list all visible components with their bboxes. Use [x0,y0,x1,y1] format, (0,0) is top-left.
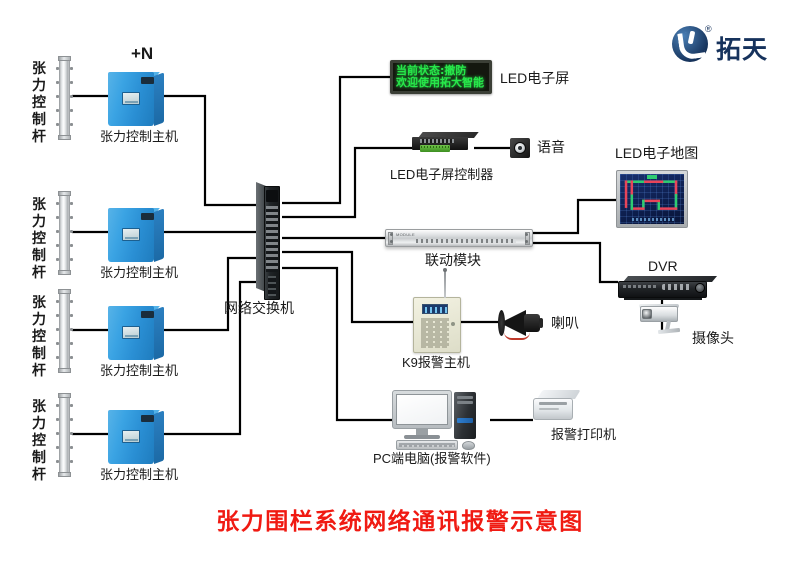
host-lcd-icon [122,326,140,339]
k9-alarm-host-label: K9报警主机 [402,356,470,371]
dvr-device [618,276,712,300]
mouse-icon [462,441,475,450]
led-controller-label: LED电子屏控制器 [390,168,493,183]
dvr-jog-dial-icon [695,283,705,293]
linkage-module-label: 联动模块 [425,252,481,268]
pc-tower-icon [454,392,476,439]
tension-pole-1 [57,57,72,139]
host-lcd-icon [122,228,140,241]
host-lcd-icon [122,430,140,443]
tension-pole-label-3: 张力控制杆 [31,294,47,379]
tension-pole-label-4: 张力控制杆 [31,398,47,483]
network-switch-label: 网络交换机 [224,300,294,316]
host-indicator-panel-icon [141,213,154,220]
led-display-screen: 当前状态:撤防 欢迎使用拓大智能 [390,60,492,94]
camera-label: 摄像头 [692,330,734,346]
led-map-label: LED电子地图 [615,145,698,161]
logo-mark-icon [672,26,708,62]
k9-alarm-host [413,297,461,353]
diagram-title: 张力围栏系统网络通讯报警示意图 [0,502,800,536]
antenna-icon [444,270,446,298]
tension-host-label-1: 张力控制主机 [100,130,178,145]
host-lcd-icon [122,92,140,105]
led-electronic-map [616,170,688,228]
tension-control-host-1 [108,66,166,126]
host-indicator-panel-icon [141,415,154,422]
alarm-host-display-icon [422,304,448,314]
printer-label: 报警打印机 [551,428,616,443]
tension-pole-4 [57,394,72,476]
alarm-printer [533,390,577,422]
tension-control-host-4 [108,404,166,464]
host-indicator-panel-icon [141,77,154,84]
tension-pole-label-2: 张力控制杆 [31,196,47,281]
registered-trademark-symbol: ® [705,24,712,34]
keyboard-icon [396,440,458,450]
led-screen-controller [412,132,474,152]
diagram-canvas: +N 张力控制杆 张力控制主机 张力控制杆 张力控制主机 [0,0,800,579]
monitor-icon [392,390,452,429]
brand-name: 拓天 [716,30,768,66]
dvr-label: DVR [648,258,678,274]
speaker-icon [514,142,526,154]
voice-device [510,138,530,158]
pc-workstation [392,390,488,450]
network-switch [256,186,284,300]
tension-pole-2 [57,192,72,274]
tension-control-host-3 [108,300,166,360]
status-led-icon [451,322,455,326]
keypad-icon [421,318,449,348]
plus-n-label: +N [131,44,153,64]
tension-control-host-2 [108,202,166,262]
tension-host-label-3: 张力控制主机 [100,364,178,379]
camera-lens-icon [642,309,652,319]
tension-pole-3 [57,290,72,372]
pc-label: PC端电脑(报警软件) [373,452,491,467]
security-camera [636,304,690,338]
tension-host-label-4: 张力控制主机 [100,468,178,483]
linkage-module: MODULE [385,229,533,247]
tension-pole-label-1: 张力控制杆 [31,60,47,145]
led-screen-label: LED电子屏 [500,70,569,86]
voice-label: 语音 [537,139,565,155]
brand-logo: ® 拓天 [672,26,792,66]
host-indicator-panel-icon [141,311,154,318]
horn-speaker [500,308,546,338]
led-screen-line-2: 欢迎使用拓大智能 [396,77,486,89]
horn-label: 喇叭 [551,315,579,331]
tension-host-label-2: 张力控制主机 [100,266,178,281]
